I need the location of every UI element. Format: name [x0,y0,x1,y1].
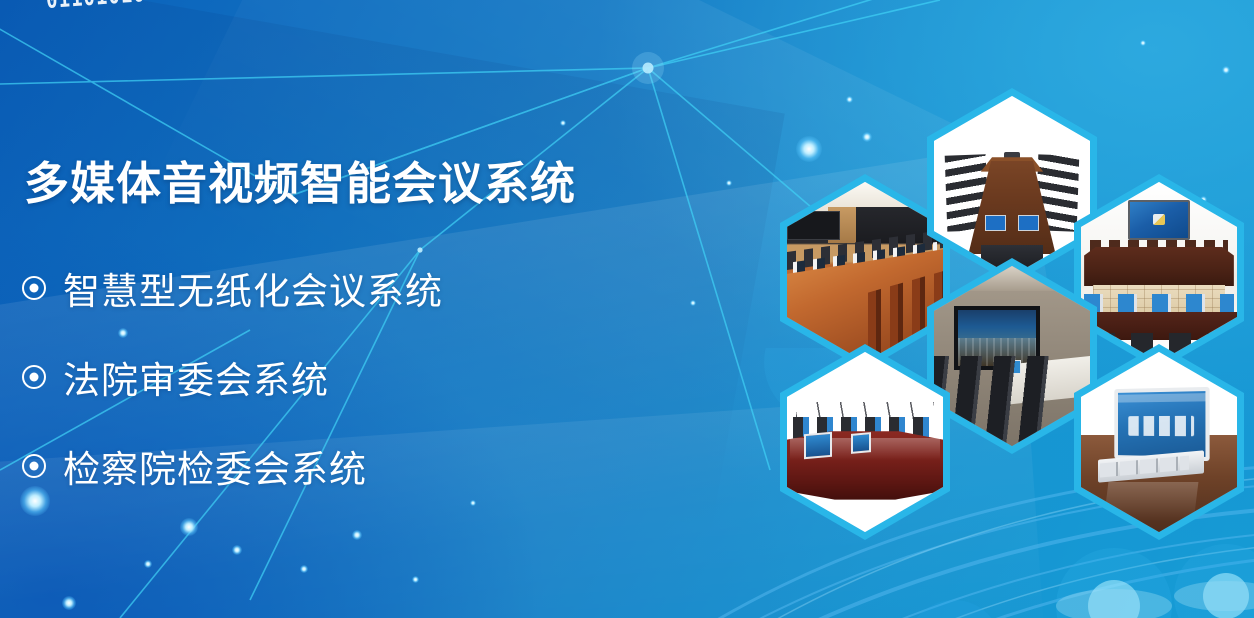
circled-dot-bullet-icon [22,276,46,300]
glow-dot [1140,40,1146,46]
hex-lift-monitor-photo [1074,344,1244,540]
hexagon-photo-collage [770,80,1254,504]
hex-curved-desk-render [780,344,950,540]
list-item-label: 法院审委会系统 [63,350,329,404]
courtroom-render-image [1081,182,1237,362]
hex-boardroom-render [927,88,1097,284]
curved-desk-image [787,352,943,532]
banner-copy: 01101010 多媒体音视频智能会议系统 智慧型无纸化会议系统 法院审委会系统… [0,0,760,618]
glow-dot [1222,66,1230,74]
conference-room-image [787,182,943,362]
circled-dot-bullet-icon [22,365,46,389]
list-item: 智慧型无纸化会议系统 [22,258,722,318]
list-item-label: 检察院检委会系统 [63,439,367,493]
list-item: 检察院检委会系统 [22,436,722,496]
display-wall-image [934,266,1090,446]
feature-list: 智慧型无纸化会议系统 法院审委会系统 检察院检委会系统 [22,258,722,525]
binary-code-overlay-text: 01101010 [45,0,146,14]
hex-courtroom-render [1074,174,1244,370]
page-title: 多媒体音视频智能会议系统 [24,147,576,212]
hex-display-wall-photo [927,258,1097,454]
lift-monitor-image [1081,352,1237,532]
list-item-label: 智慧型无纸化会议系统 [63,261,443,315]
list-item: 法院审委会系统 [22,347,722,407]
boardroom-render-image [934,96,1090,276]
hex-conference-room-photo [780,174,950,370]
circled-dot-bullet-icon [22,454,46,478]
promo-banner: 01101010 多媒体音视频智能会议系统 智慧型无纸化会议系统 法院审委会系统… [0,0,1254,618]
